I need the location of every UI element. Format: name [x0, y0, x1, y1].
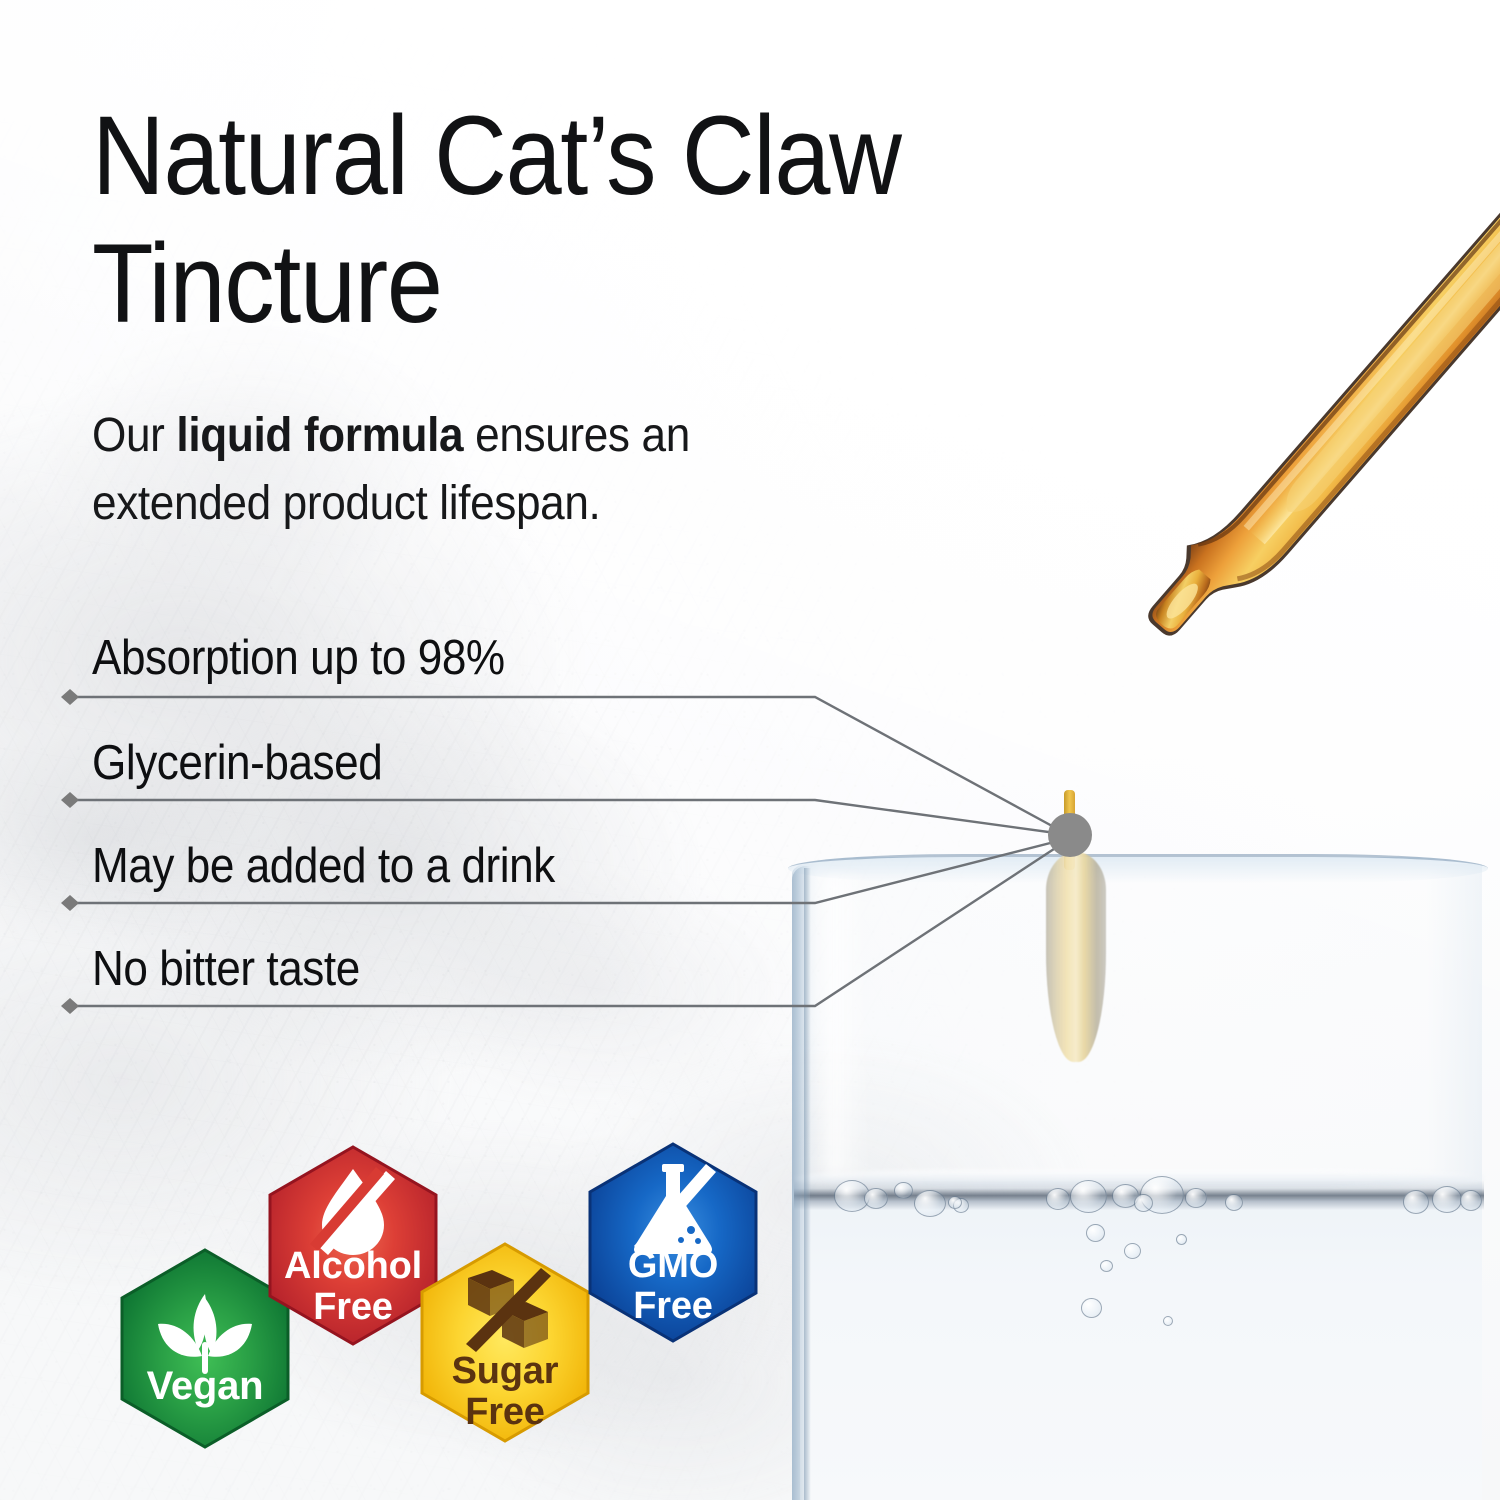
badge-gmo-free[interactable]: GMO Free	[578, 1140, 768, 1345]
badge-sugar-free-shape	[410, 1240, 600, 1445]
product-infographic: Natural Cat’s Claw Tincture Our liquid f…	[0, 0, 1500, 1500]
badge-gmo-free-shape	[578, 1140, 768, 1345]
badge-sugar-free[interactable]: Sugar Free	[410, 1240, 600, 1445]
no-sugar-cubes-icon	[466, 1268, 551, 1352]
certification-badges: Vegan	[0, 0, 1500, 1500]
